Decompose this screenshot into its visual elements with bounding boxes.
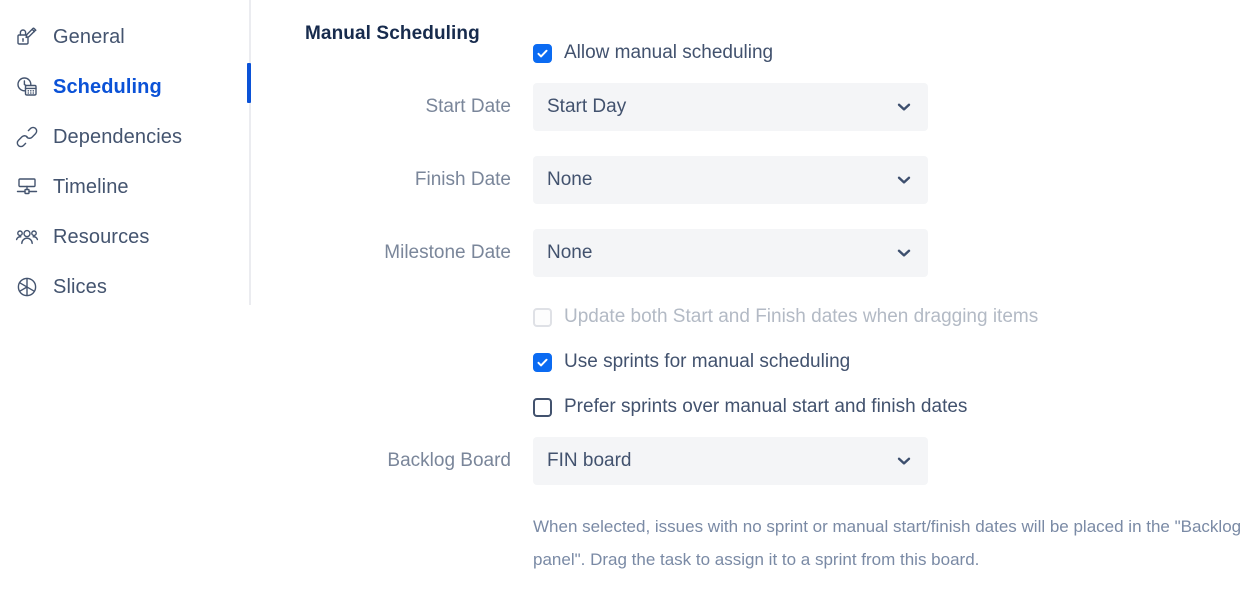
sidebar-item-slices[interactable]: Slices xyxy=(0,262,250,312)
sidebar-item-label: Timeline xyxy=(53,176,129,199)
sidebar-item-label: Resources xyxy=(53,226,150,249)
prefer-sprints-checkbox[interactable] xyxy=(533,398,552,417)
finish-date-label: Finish Date xyxy=(250,169,533,191)
milestone-date-value: None xyxy=(547,242,592,264)
prefer-sprints-checkbox-wrap[interactable]: Prefer sprints over manual start and fin… xyxy=(533,396,967,418)
chevron-down-icon[interactable] xyxy=(894,97,914,117)
use-sprints-label: Use sprints for manual scheduling xyxy=(564,351,850,373)
sidebar-item-general[interactable]: General xyxy=(0,12,250,62)
settings-sidebar: General Scheduling xyxy=(0,0,250,580)
check-icon xyxy=(536,47,549,60)
start-date-select[interactable]: Start Day xyxy=(533,83,928,131)
milestone-date-row: Milestone Date None xyxy=(250,229,1254,277)
milestone-date-label: Milestone Date xyxy=(250,242,533,264)
allow-manual-scheduling-label: Allow manual scheduling xyxy=(564,42,773,64)
pie-slices-icon xyxy=(14,274,40,300)
update-both-dates-checkbox-wrap: Update both Start and Finish dates when … xyxy=(533,306,1038,328)
update-both-dates-label: Update both Start and Finish dates when … xyxy=(564,306,1038,328)
backlog-board-help-text: When selected, issues with no sprint or … xyxy=(533,510,1254,576)
clock-calendar-icon xyxy=(14,74,40,100)
sidebar-item-dependencies[interactable]: Dependencies xyxy=(0,112,250,162)
timeline-node-icon xyxy=(14,174,40,200)
finish-date-row: Finish Date None xyxy=(250,156,1254,204)
sidebar-item-label: Scheduling xyxy=(53,76,162,99)
scheduling-form: Allow manual scheduling Start Date Start… xyxy=(250,38,1254,593)
lock-edit-icon xyxy=(14,24,40,50)
chevron-down-icon[interactable] xyxy=(894,243,914,263)
allow-manual-scheduling-checkbox[interactable] xyxy=(533,44,552,63)
sidebar-item-label: Slices xyxy=(53,276,107,299)
scheduling-settings-panel: Manual Scheduling Allow manual schedulin… xyxy=(250,0,1254,580)
milestone-date-select[interactable]: None xyxy=(533,229,928,277)
spacer-label xyxy=(250,493,533,593)
start-date-value: Start Day xyxy=(547,96,626,118)
use-sprints-checkbox[interactable] xyxy=(533,353,552,372)
backlog-board-value: FIN board xyxy=(547,450,631,472)
chain-link-icon xyxy=(14,124,40,150)
start-date-label: Start Date xyxy=(250,96,533,118)
backlog-board-help-row: When selected, issues with no sprint or … xyxy=(250,493,1254,593)
sidebar-item-timeline[interactable]: Timeline xyxy=(0,162,250,212)
sidebar-item-label: General xyxy=(53,26,125,49)
backlog-board-label: Backlog Board xyxy=(250,450,533,472)
sidebar-item-resources[interactable]: Resources xyxy=(0,212,250,262)
settings-page: General Scheduling xyxy=(0,0,1254,580)
use-sprints-checkbox-wrap[interactable]: Use sprints for manual scheduling xyxy=(533,351,850,373)
allow-manual-scheduling-row: Allow manual scheduling xyxy=(250,38,1254,68)
backlog-board-row: Backlog Board FIN board xyxy=(250,437,1254,485)
check-icon xyxy=(536,356,549,369)
finish-date-select[interactable]: None xyxy=(533,156,928,204)
use-sprints-row: Use sprints for manual scheduling xyxy=(250,347,1254,377)
prefer-sprints-label: Prefer sprints over manual start and fin… xyxy=(564,396,967,418)
allow-manual-scheduling-checkbox-wrap[interactable]: Allow manual scheduling xyxy=(533,42,773,64)
people-group-icon xyxy=(14,224,40,250)
chevron-down-icon[interactable] xyxy=(894,170,914,190)
start-date-row: Start Date Start Day xyxy=(250,83,1254,131)
update-both-dates-checkbox xyxy=(533,308,552,327)
finish-date-value: None xyxy=(547,169,592,191)
chevron-down-icon[interactable] xyxy=(894,451,914,471)
prefer-sprints-row: Prefer sprints over manual start and fin… xyxy=(250,392,1254,422)
update-both-dates-row: Update both Start and Finish dates when … xyxy=(250,302,1254,332)
sidebar-item-scheduling[interactable]: Scheduling xyxy=(0,62,250,112)
sidebar-item-label: Dependencies xyxy=(53,126,182,149)
backlog-board-select[interactable]: FIN board xyxy=(533,437,928,485)
